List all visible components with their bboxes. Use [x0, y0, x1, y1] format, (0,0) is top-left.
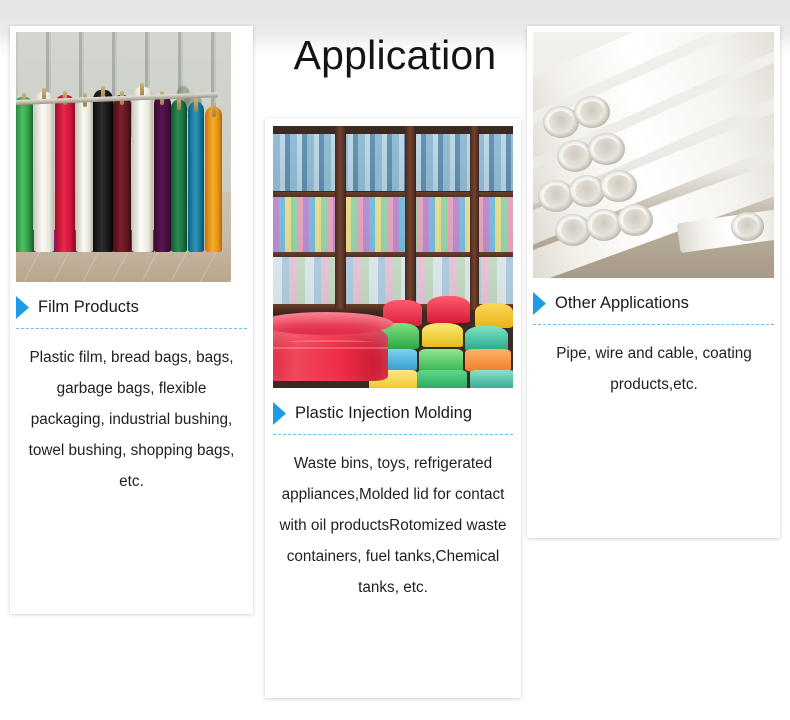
card-body-other-applications: Pipe, wire and cable, coating products,e… [549, 338, 759, 400]
card-film-products[interactable]: Film Products Plastic film, bread bags, … [10, 26, 253, 614]
caption-divider [16, 328, 247, 329]
caption-divider [533, 324, 774, 325]
card-caption-other-applications: Other Applications [533, 284, 689, 322]
card-caption-label: Film Products [38, 298, 139, 317]
triangle-right-icon [16, 296, 29, 319]
card-body-plastic-injection-molding: Waste bins, toys, refrigerated appliance… [279, 448, 507, 603]
caption-divider [273, 434, 513, 435]
application-section: Application [0, 0, 790, 720]
card-caption-label: Plastic Injection Molding [295, 404, 472, 423]
card-plastic-injection-molding[interactable]: Plastic Injection Molding Waste bins, to… [265, 118, 521, 698]
white-pvc-pipes-photo [533, 32, 774, 278]
card-caption-label: Other Applications [555, 294, 689, 313]
triangle-right-icon [273, 402, 286, 425]
card-other-applications[interactable]: Other Applications Pipe, wire and cable,… [527, 26, 780, 538]
plastic-housewares-store-photo [273, 126, 513, 388]
page-title: Application [262, 30, 528, 80]
plastic-film-rolls-photo [16, 32, 231, 282]
triangle-right-icon [533, 292, 546, 315]
card-caption-film-products: Film Products [16, 288, 139, 326]
card-body-film-products: Plastic film, bread bags, bags, garbage … [23, 342, 240, 497]
card-caption-plastic-injection-molding: Plastic Injection Molding [273, 394, 472, 432]
